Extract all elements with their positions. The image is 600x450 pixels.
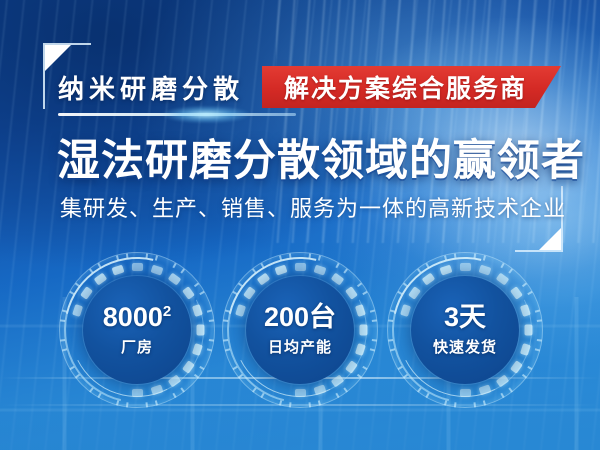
- glowing-divider: [58, 113, 296, 116]
- stat-badges: 80002 厂房 200台 日均产能 3天 快速发货: [0, 252, 600, 412]
- badge-value: 200台: [264, 303, 336, 331]
- red-ribbon: 解决方案综合服务商: [262, 66, 561, 108]
- badge-value-number: 200台: [264, 302, 336, 332]
- kicker-text: 纳米研磨分散: [58, 69, 244, 106]
- kicker-row: 纳米研磨分散 解决方案综合服务商: [58, 66, 561, 108]
- ribbon-label: 解决方案综合服务商: [284, 69, 527, 105]
- badge-value: 3天: [444, 303, 486, 331]
- badge-core: 3天 快速发货: [411, 276, 519, 384]
- headline: 湿法研磨分散领域的赢领者: [57, 126, 585, 188]
- badge-core: 200台 日均产能: [246, 276, 354, 384]
- stat-badge-capacity: 200台 日均产能: [222, 252, 378, 408]
- badge-value-number: 3天: [444, 302, 486, 332]
- stat-badge-delivery: 3天 快速发货: [387, 252, 543, 408]
- badge-value: 80002: [103, 303, 171, 331]
- stat-badge-factory: 80002 厂房: [59, 252, 215, 408]
- badge-label: 日均产能: [268, 336, 332, 357]
- badge-label: 快速发货: [433, 336, 497, 357]
- promotional-banner: 纳米研磨分散 解决方案综合服务商 湿法研磨分散领域的赢领者 集研发、生产、销售、…: [0, 0, 600, 450]
- badge-value-number: 8000: [103, 302, 163, 332]
- badge-label: 厂房: [121, 336, 153, 357]
- subheadline: 集研发、生产、销售、服务为一体的高新技术企业: [60, 191, 566, 223]
- badge-value-superscript: 2: [163, 303, 171, 320]
- badge-core: 80002 厂房: [83, 276, 191, 384]
